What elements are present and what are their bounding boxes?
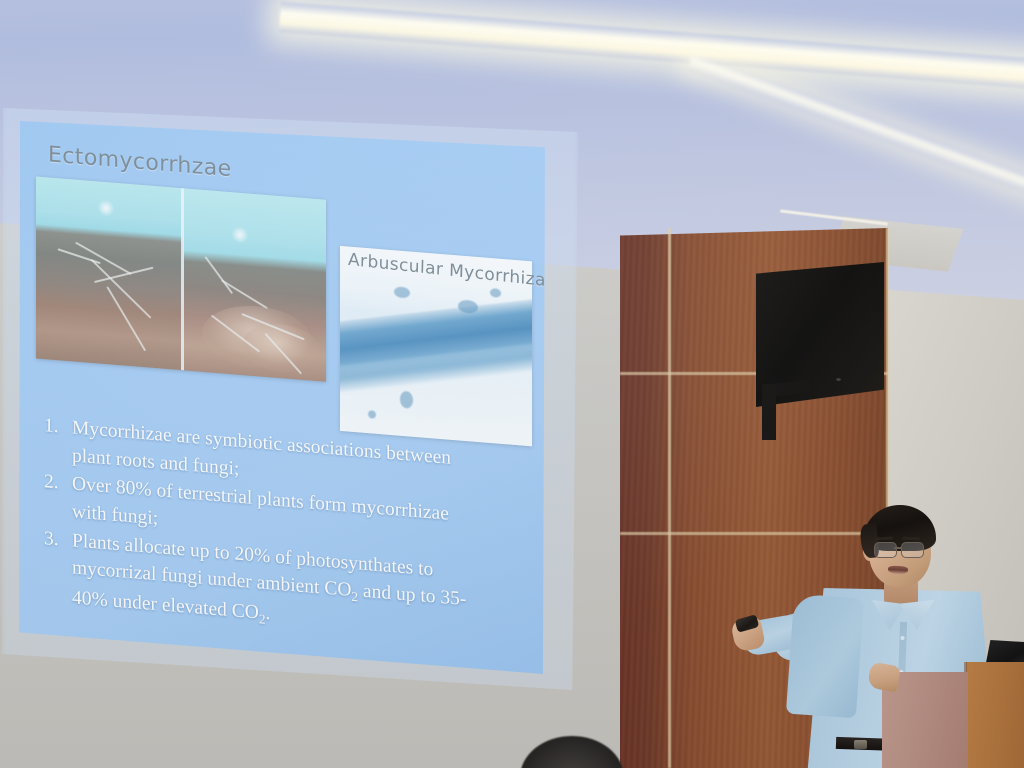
- tissue-speck: [400, 391, 413, 409]
- glasses-lens-right-icon: [901, 542, 924, 558]
- presenter-shoulder: [786, 594, 864, 719]
- bullet-number: 2.: [38, 468, 72, 526]
- root-filament: [58, 248, 101, 264]
- glasses-lens-left-icon: [874, 542, 897, 558]
- presenter-belt-buckle: [854, 740, 867, 749]
- spore-icon: [232, 226, 248, 243]
- photo-divider: [181, 188, 184, 370]
- slide-content: Ectomycorrhzae Arbuscular Mycorrhizae 1.…: [18, 112, 545, 674]
- projected-slide[interactable]: Ectomycorrhzae Arbuscular Mycorrhizae 1.…: [18, 112, 545, 674]
- bullet-number: 1.: [38, 412, 72, 470]
- ectomycorrhizae-photo: [36, 176, 326, 381]
- glasses-bridge-icon: [894, 547, 902, 549]
- lecture-photo-scene: Ectomycorrhzae Arbuscular Mycorrhizae 1.…: [0, 0, 1024, 768]
- tissue-speck: [368, 410, 376, 419]
- spore-icon: [98, 199, 114, 216]
- slide-bullet-list: 1. Mycorrhizae are symbiotic association…: [38, 412, 538, 653]
- wood-seam-horizontal-lower: [620, 532, 888, 535]
- ectomycorrhizae-label: Ectomycorrhzae: [48, 142, 232, 182]
- shirt-button: [900, 636, 904, 640]
- wood-seam-vertical-left: [668, 228, 671, 768]
- podium-side-panel: [966, 662, 1024, 768]
- monitor-led-icon: [836, 378, 841, 381]
- tissue-speck: [394, 286, 410, 298]
- tissue-speck: [490, 288, 501, 298]
- monitor-mount-post: [762, 384, 776, 440]
- bullet-number: 3.: [38, 524, 72, 614]
